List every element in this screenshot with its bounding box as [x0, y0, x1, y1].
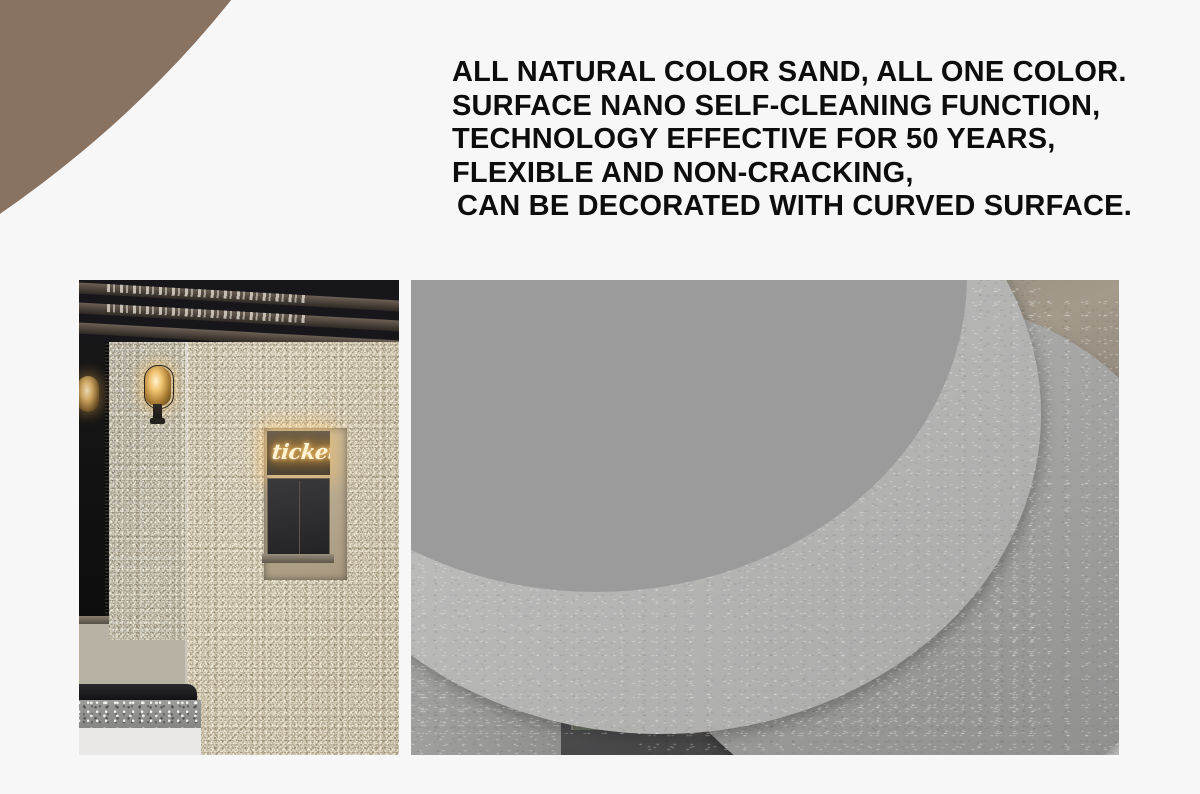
headline-line-5: CAN BE DECORATED WITH CURVED SURFACE.	[452, 190, 1152, 224]
dark-louvered-soffit	[79, 280, 399, 342]
poster-canvas: ALL NATURAL COLOR SAND, ALL ONE COLOR. S…	[0, 0, 1200, 794]
ticket-counter-window	[267, 478, 330, 556]
photo-left-sand-facade: ticket	[79, 280, 399, 755]
wall-lamp-primary	[143, 366, 177, 426]
ticket-sign-label: ticket	[270, 437, 330, 467]
pavement-face	[79, 728, 201, 755]
wall-lamp-secondary	[79, 376, 103, 426]
headline-line-1: ALL NATURAL COLOR SAND, ALL ONE COLOR.	[452, 56, 1152, 90]
headline-line-4: FLEXIBLE AND NON-CRACKING,	[452, 157, 1152, 191]
photo-right-lobby-arches	[411, 280, 1119, 755]
ticket-neon-sign-panel: ticket	[267, 431, 330, 475]
lamp-metal-cage	[144, 365, 174, 409]
headline-line-3: TECHNOLOGY EFFECTIVE FOR 50 YEARS,	[452, 123, 1152, 157]
headline-block: ALL NATURAL COLOR SAND, ALL ONE COLOR. S…	[452, 56, 1152, 224]
ticket-window-niche: ticket	[264, 428, 347, 580]
photo-right-clip	[411, 280, 1119, 755]
window-mullion	[299, 481, 301, 555]
lamp-wall-base	[150, 418, 165, 424]
lamp-glass-shade-secondary	[79, 376, 99, 412]
headline-line-2: SURFACE NANO SELF-CLEANING FUNCTION,	[452, 90, 1152, 124]
ticket-counter-ledge	[262, 554, 334, 563]
